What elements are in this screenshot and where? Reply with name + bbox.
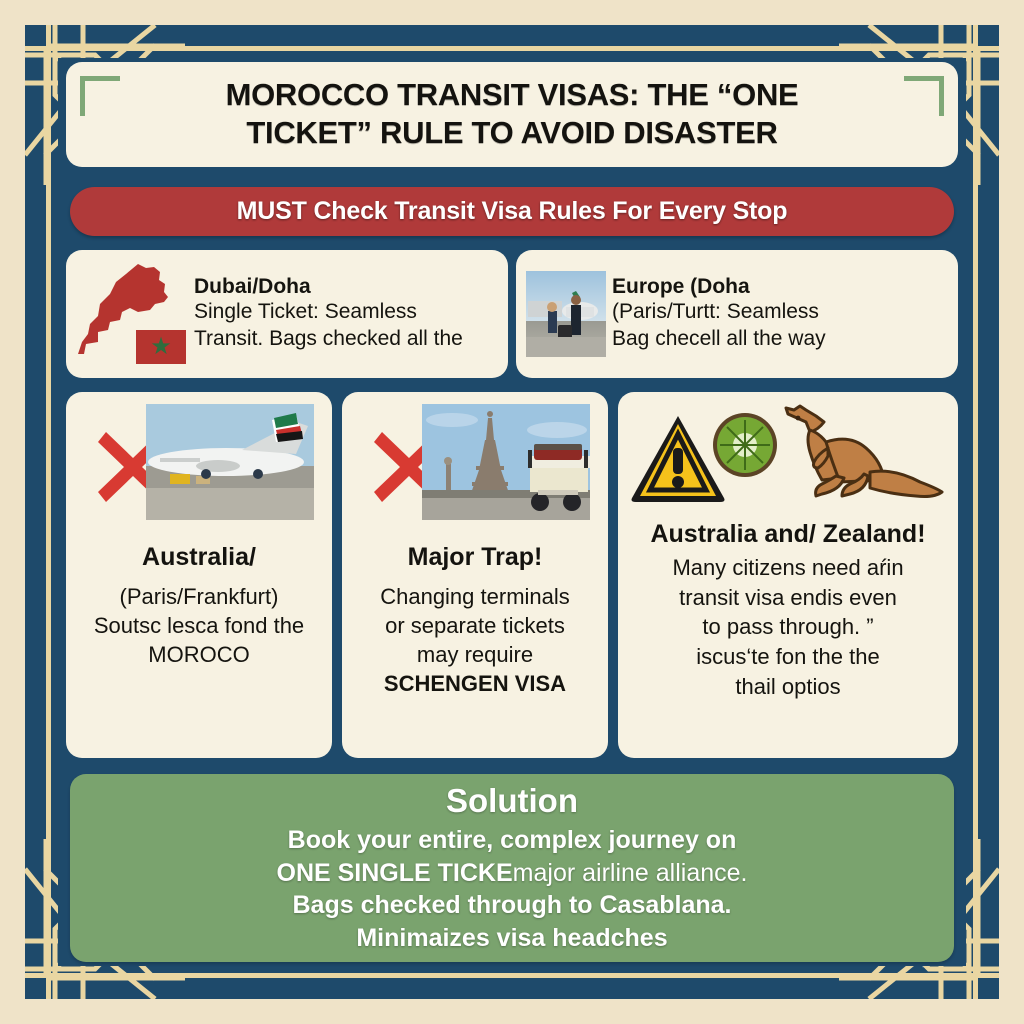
solution-line-1: Book your entire, complex journey on <box>288 824 737 857</box>
eiffel-tower-photo <box>422 404 590 520</box>
body-line-2: Soutsc lesca fond the <box>94 611 304 640</box>
body-line-4: SCHENGEN VISA <box>380 669 570 698</box>
solution-title: Solution <box>446 782 578 820</box>
warning-card-body: Many citizens need aŕin transit visa end… <box>672 553 903 701</box>
card-media <box>630 402 946 514</box>
solution-line-4: Minimaizes visa headches <box>356 922 667 955</box>
warning-card-body: Changing terminals or separate tickets m… <box>380 582 570 698</box>
info-card-heading: Dubai/Doha <box>194 275 463 299</box>
info-card-text: Dubai/Doha Single Ticket: Seamless Trans… <box>194 275 463 353</box>
info-card-europe-doha: Europe (Doha (Paris/Turtt: Seamless Bag … <box>516 250 958 378</box>
body-line-3: to pass through. ” <box>672 612 903 642</box>
body-line-4: iscus‘te fon the the <box>672 642 903 672</box>
info-card-line-2b: ell all the way <box>700 327 826 350</box>
warning-card-body: (Paris/Frankfurt) Soutsc lesca fond the … <box>94 582 304 669</box>
info-card-heading: Europe (Doha <box>612 275 826 299</box>
warning-card-row: Australia/ (Paris/Frankfurt) Soutsc lesc… <box>66 392 958 758</box>
warning-card-australia: Australia/ (Paris/Frankfurt) Soutsc lesc… <box>66 392 332 758</box>
corner-bracket-icon <box>904 76 944 116</box>
info-card-line-1: (Paris/Turtt: Seamless <box>612 299 826 326</box>
body-line-1: Many citizens need aŕin <box>672 553 903 583</box>
info-card-line-2: Transit. Bags checked all the <box>194 326 463 353</box>
morocco-map-icon: ★ <box>76 258 188 370</box>
solution-line-2-thin: major airline alliance. <box>513 859 748 887</box>
frame-gold-line-left <box>46 25 51 999</box>
body-line-2: or separate tickets <box>380 611 570 640</box>
infographic-poster: MOROCCO TRANSIT VISAS: THE “ONE TICKET” … <box>0 0 1024 1024</box>
card-media <box>354 402 596 522</box>
card-media <box>78 402 320 522</box>
solution-line-3: Bags checked through to Casablana. <box>293 889 732 922</box>
morocco-flag-icon: ★ <box>136 330 186 364</box>
info-card-line-1: Single Ticket: Seamless <box>194 299 463 326</box>
frame-gold-line-top <box>25 46 999 51</box>
info-card-line-2: Bag checell all the way <box>612 326 826 353</box>
title-line-2: TICKET” RULE TO AVOID DISASTER <box>162 114 862 152</box>
warning-card-heading: Australia/ <box>142 542 256 572</box>
kangaroo-icon <box>766 404 946 512</box>
warning-card-heading: Australia and/ Zealand! <box>650 520 925 549</box>
solution-line-2: ONE SINGLE TICKEmajor airline alliance. <box>277 857 748 890</box>
frame-gold-line-bottom <box>25 973 999 978</box>
title-card: MOROCCO TRANSIT VISAS: THE “ONE TICKET” … <box>66 62 958 167</box>
body-line-2: transit visa endis even <box>672 583 903 613</box>
info-card-row: ★ Dubai/Doha Single Ticket: Seamless Tra… <box>66 250 958 378</box>
solution-line-2-bold: ONE SINGLE TICKE <box>277 859 513 887</box>
info-card-line-2a: Bag chec <box>612 327 700 350</box>
warning-card-major-trap: Major Trap! Changing terminals or separa… <box>342 392 608 758</box>
corner-bracket-icon <box>80 76 120 116</box>
body-line-1: Changing terminals <box>380 582 570 611</box>
frame-gold-line-right <box>973 25 978 999</box>
travelers-photo <box>526 271 606 357</box>
body-line-5: thail optios <box>672 672 903 702</box>
warning-card-australia-nz: Australia and/ Zealand! Many citizens ne… <box>618 392 958 758</box>
flag-star-glyph: ★ <box>150 335 172 359</box>
warning-card-heading: Major Trap! <box>408 542 543 572</box>
page-title: MOROCCO TRANSIT VISAS: THE “ONE TICKET” … <box>162 76 862 152</box>
solution-panel: Solution Book your entire, complex journ… <box>70 774 954 962</box>
alert-banner-text: MUST Check Transit Visa Rules For Every … <box>237 197 788 226</box>
title-line-1: MOROCCO TRANSIT VISAS: THE “ONE <box>162 76 862 114</box>
airplane-photo <box>146 404 314 520</box>
content-stack: MOROCCO TRANSIT VISAS: THE “ONE TICKET” … <box>62 62 962 962</box>
body-line-1: (Paris/Frankfurt) <box>94 582 304 611</box>
body-line-3: may require <box>380 640 570 669</box>
info-card-text: Europe (Doha (Paris/Turtt: Seamless Bag … <box>612 275 826 353</box>
info-card-dubai-doha: ★ Dubai/Doha Single Ticket: Seamless Tra… <box>66 250 508 378</box>
body-line-3: MOROCO <box>94 640 304 669</box>
alert-banner: MUST Check Transit Visa Rules For Every … <box>70 187 954 236</box>
